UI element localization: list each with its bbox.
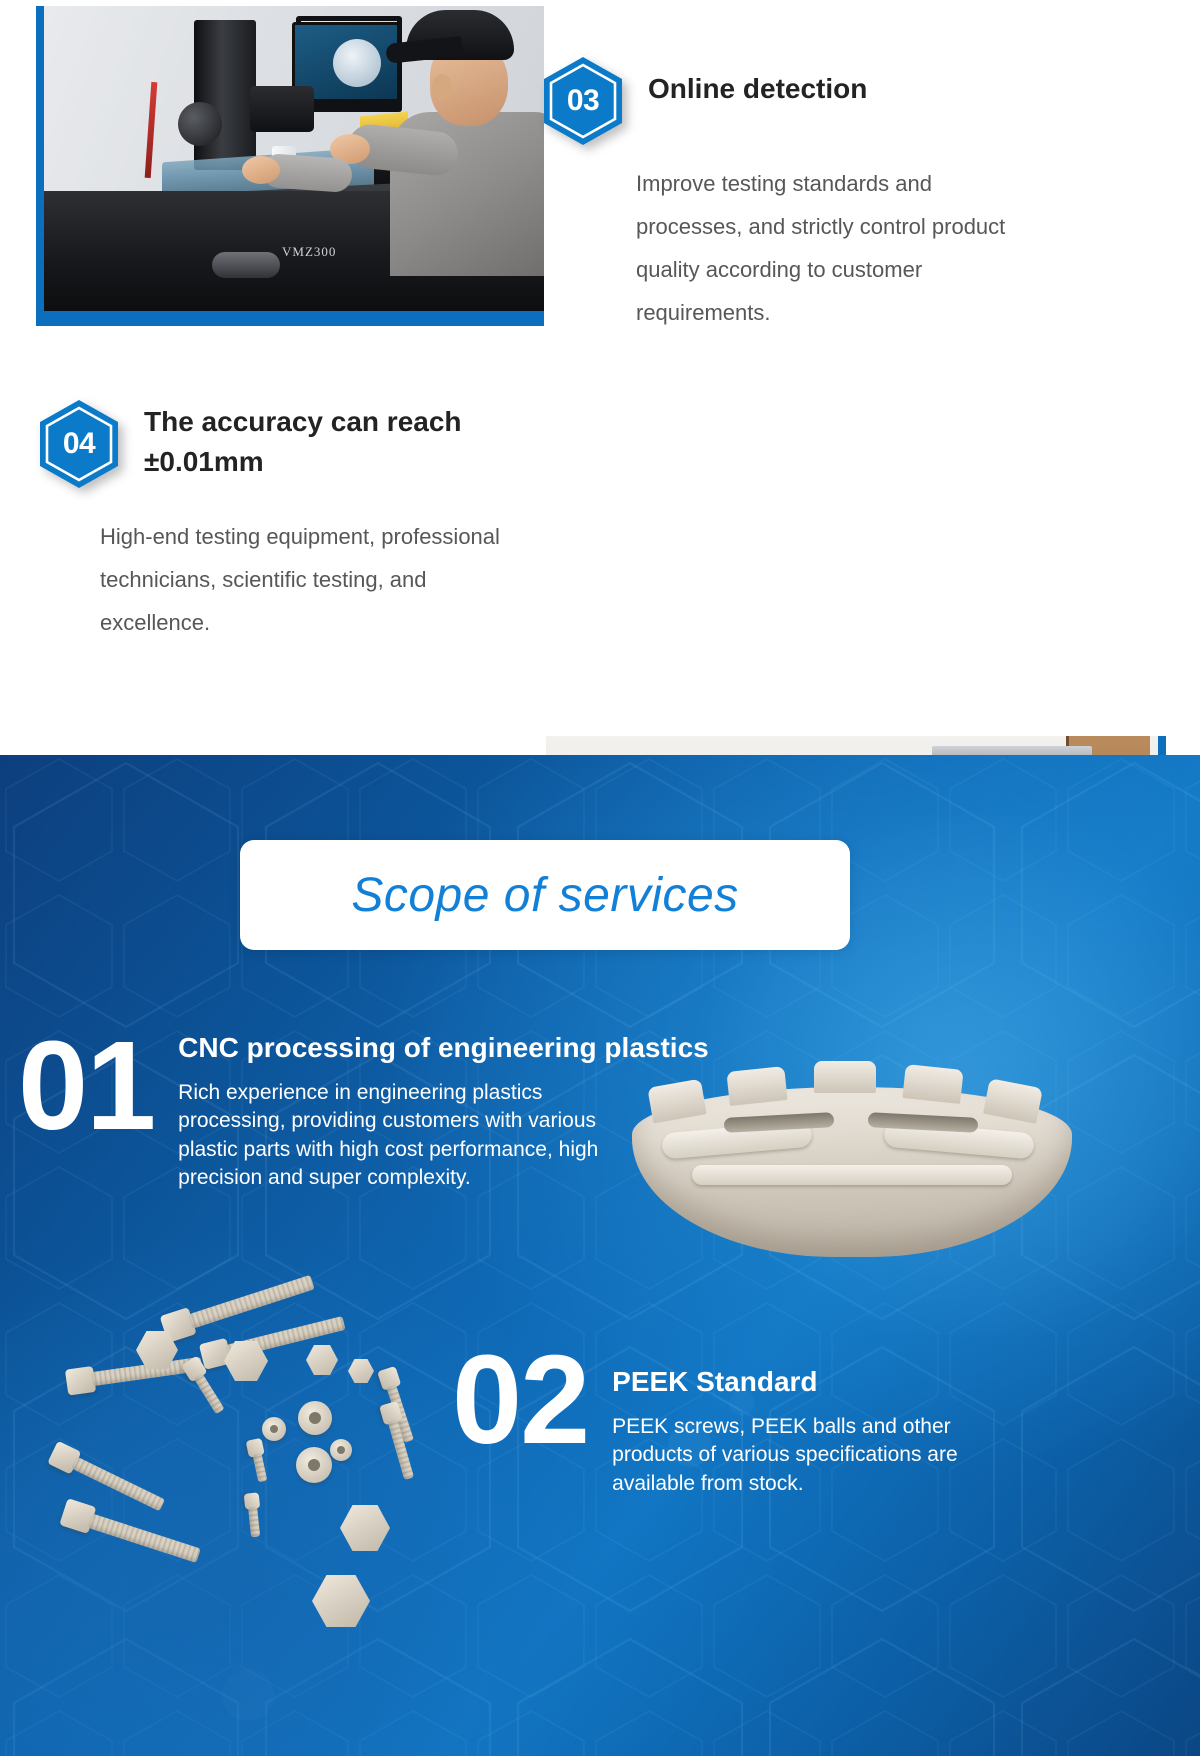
inspection-disk [333,39,381,87]
feature-03-photo: VMZ300 [44,6,544,311]
hexagon-badge-icon: 04 [36,398,122,490]
scene-operator [382,6,544,266]
peek-tooth [726,1066,787,1106]
feature-04-title: The accuracy can reach ±0.01mm [144,398,536,482]
feature-03-number: 03 [540,55,626,147]
hex-nut [312,1575,370,1627]
feature-03-body: Improve testing standards and processes,… [636,163,1036,335]
peek-rib [692,1165,1012,1185]
service-02-product-photo [40,1275,470,1725]
operator-hand-left [242,156,280,184]
bolt-shaft [253,1453,268,1482]
scene-focus-knob [178,102,222,146]
bolt [244,1437,273,1484]
scene-machine-label: VMZ300 [282,244,336,260]
hexagon-badge-icon: 03 [540,55,626,147]
service-item-02: 02 PEEK Standard PEEK screws, PEEK balls… [452,1343,1192,1498]
service-01-product-photo [632,1053,1072,1283]
feature-03-photo-frame: VMZ300 [36,6,544,326]
washer [330,1439,352,1461]
feature-04-number: 04 [36,398,122,490]
service-02-body: PEEK screws, PEEK balls and other produc… [612,1413,1012,1499]
bolt-shaft [248,1507,260,1538]
photo-scene-measuring-room: VMZ300 [44,6,544,311]
service-01-title: CNC processing of engineering plastics [178,1031,709,1065]
feature-04-body: High-end testing equipment, professional… [100,516,530,645]
service-02-number: 02 [452,1343,588,1456]
feature-03-heading-row: 03 Online detection [540,55,1160,147]
bolt [242,1492,265,1540]
washer [298,1401,332,1435]
feature-03-text: 03 Online detection Improve testing stan… [540,55,1160,335]
peek-tooth [902,1064,963,1104]
scene-optics-column [194,20,256,170]
washer [296,1447,332,1483]
feature-block-04: 04 The accuracy can reach ±0.01mm High-e… [0,368,1200,768]
service-02-title: PEEK Standard [612,1365,1012,1399]
service-02-text: PEEK Standard PEEK screws, PEEK balls an… [612,1343,1012,1498]
hex-nut [340,1505,390,1551]
page-root: VMZ300 [0,0,1200,1756]
scope-of-services-section: Scope of services 01 CNC processing of e… [0,755,1200,1756]
bolt-shaft [194,1373,225,1414]
scene-roller [212,252,280,278]
peek-tooth [814,1061,876,1093]
bolt-shaft [88,1513,201,1562]
bolt-head [65,1366,96,1396]
feature-block-03: VMZ300 [0,0,1200,360]
hex-nut [348,1359,374,1383]
features-section: VMZ300 [0,0,1200,845]
washer [262,1417,286,1441]
operator-ear [432,74,452,100]
service-item-01: 01 CNC processing of engineering plastic… [18,1023,658,1193]
feature-04-heading-row: 04 The accuracy can reach ±0.01mm [36,398,536,490]
service-01-body: Rich experience in engineering plastics … [178,1079,608,1193]
scope-banner-title: Scope of services [351,868,738,923]
feature-03-title: Online detection [648,55,867,109]
feature-04-text: 04 The accuracy can reach ±0.01mm High-e… [36,398,536,645]
service-01-text: CNC processing of engineering plastics R… [178,1023,709,1193]
service-01-number: 01 [18,1029,154,1142]
scope-banner-card: Scope of services [240,840,850,950]
scene-lens-head [250,86,314,132]
